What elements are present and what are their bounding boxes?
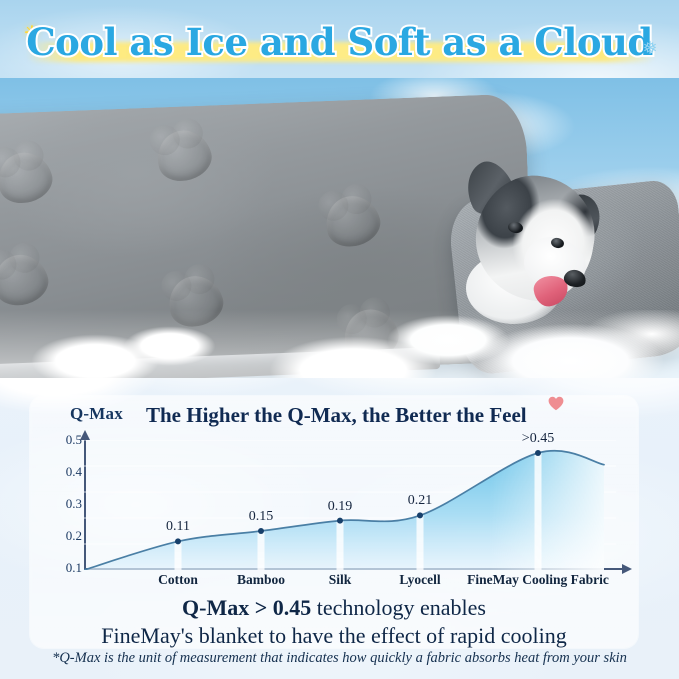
blanket-heart-quilt: [0, 248, 53, 311]
y-axis-arrow: [80, 430, 90, 440]
footnote: *Q-Max is the unit of measurement that i…: [0, 650, 679, 667]
blanket-heart-quilt: [151, 124, 217, 187]
chart-title: The Higher the Q-Max, the Better the Fee…: [146, 403, 566, 428]
qmax-area-chart: [84, 440, 632, 570]
x-axis-label: Silk: [329, 572, 352, 588]
data-point-marker: [337, 518, 343, 524]
x-axis-label: Bamboo: [237, 572, 285, 588]
header: ❈ Cool as Ice and Soft as a Cloud ❅: [0, 0, 679, 80]
category-bar: [337, 521, 344, 570]
data-point-marker: [535, 450, 541, 456]
dog: [448, 160, 638, 330]
blanket-heart-quilt: [0, 146, 57, 209]
caption: Q-Max > 0.45 technology enables FineMay'…: [30, 594, 638, 650]
caption-line-1: Q-Max > 0.45 technology enables: [30, 594, 638, 622]
y-tick-label: 0.2: [58, 528, 82, 544]
data-point-marker: [258, 528, 264, 534]
page-title: Cool as Ice and Soft as a Cloud: [0, 20, 679, 64]
data-point-marker: [175, 538, 181, 544]
y-axis-caption: Q-Max: [70, 404, 123, 424]
y-axis-tick-labels: 0.5 0.4 0.3 0.2 0.1: [58, 432, 82, 578]
y-tick-label: 0.3: [58, 496, 82, 512]
heart-icon: [548, 396, 564, 411]
data-point-label: 0.19: [328, 499, 353, 515]
snowflake-icon: ❅: [640, 38, 660, 58]
category-bar: [258, 531, 265, 570]
x-axis-label: Cotton: [158, 572, 198, 588]
y-tick-label: 0.1: [58, 560, 82, 576]
infographic-page: ❈ Cool as Ice and Soft as a Cloud ❅: [0, 0, 679, 679]
product-photo: [0, 78, 679, 378]
caption-line-1-rest: technology enables: [311, 595, 486, 620]
cloud-overlay: [0, 310, 679, 378]
category-bar: [417, 515, 424, 570]
category-bar: [175, 541, 182, 570]
plot-area: [84, 440, 632, 570]
data-point-marker: [417, 512, 423, 518]
data-point-label: 0.21: [408, 493, 433, 509]
x-axis-label: FineMay Cooling Fabric: [467, 572, 609, 588]
y-tick-label: 0.4: [58, 464, 82, 480]
y-tick-label: 0.5: [58, 432, 82, 448]
blanket-heart-quilt: [320, 190, 386, 253]
x-axis-label: Lyocell: [399, 572, 440, 588]
data-point-label: >0.45: [522, 431, 554, 447]
caption-line-2: FineMay's blanket to have the effect of …: [30, 622, 638, 650]
category-bar: [535, 453, 542, 570]
data-point-label: 0.11: [166, 519, 190, 535]
data-point-label: 0.15: [249, 509, 274, 525]
caption-qmax-bold: Q-Max > 0.45: [182, 595, 311, 620]
